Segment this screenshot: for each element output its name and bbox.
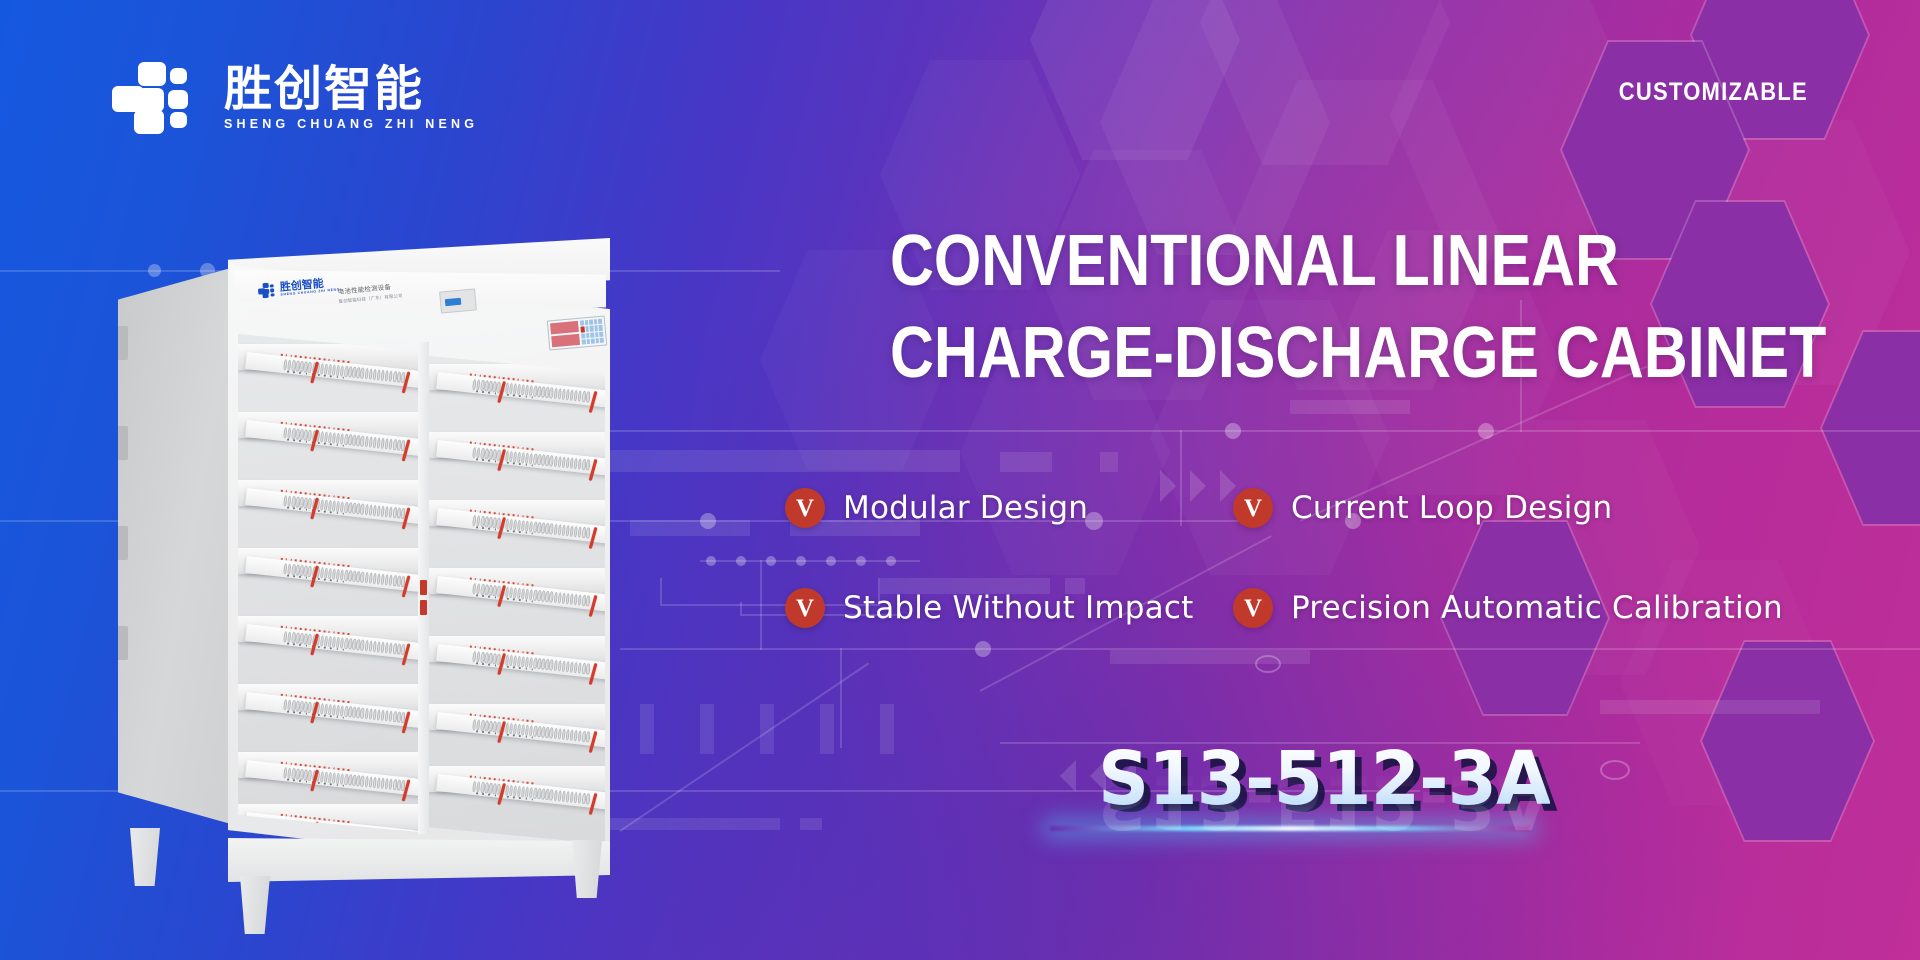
model-number-reflection: S13-512-3A	[1098, 764, 1550, 838]
feature-label: Stable Without Impact	[843, 590, 1193, 626]
cabinet-base-plinth	[228, 838, 610, 882]
feature-item-precision-automatic-calibration: V Precision Automatic Calibration	[1233, 588, 1783, 628]
keypad-keys[interactable]	[580, 319, 604, 345]
feature-label: Modular Design	[843, 490, 1088, 526]
feature-item-modular-design: V Modular Design	[785, 488, 1205, 528]
check-badge-label: V	[796, 496, 814, 521]
feature-label: Current Loop Design	[1291, 490, 1612, 526]
check-badge-label: V	[796, 596, 814, 621]
cabinet-bay-left	[238, 334, 418, 832]
brand-name-cn: 胜创智能	[224, 65, 478, 113]
feature-label: Precision Automatic Calibration	[1291, 590, 1783, 626]
check-badge-icon: V	[1233, 588, 1273, 628]
product-image-charge-discharge-cabinet: 胜创智能 SHENG CHUANG ZHI NENG 电池性能检测设备 胜创智能…	[110, 238, 670, 928]
check-badge-icon: V	[785, 588, 825, 628]
brand-name-en: SHENG CHUANG ZHI NENG	[224, 118, 478, 131]
cabinet-leg	[240, 876, 270, 934]
brand-logo[interactable]: 胜创智能 SHENG CHUANG ZHI NENG	[112, 62, 478, 134]
headline-line-1: CONVENTIONAL LINEAR	[890, 218, 1826, 306]
sheng-chuang-node-mark-icon	[112, 62, 198, 134]
cabinet-control-keypad[interactable]	[547, 315, 607, 350]
cabinet-leg	[572, 840, 602, 898]
cabinet-card-slot[interactable]	[439, 288, 477, 313]
feature-list: V Modular Design V Current Loop Design V…	[785, 488, 1783, 628]
cabinet-logo-mark-icon	[257, 282, 275, 298]
check-badge-icon: V	[785, 488, 825, 528]
customizable-tag: CUSTOMIZABLE	[1619, 78, 1808, 107]
headline-line-2: CHARGE-DISCHARGE CABINET	[890, 310, 1826, 398]
check-badge-label: V	[1244, 596, 1262, 621]
keypad-display	[550, 321, 580, 347]
page-title: CONVENTIONAL LINEAR CHARGE-DISCHARGE CAB…	[890, 218, 1920, 398]
cabinet-left-side-panel	[118, 266, 238, 826]
cabinet-center-divider	[418, 342, 429, 834]
feature-item-stable-without-impact: V Stable Without Impact	[785, 588, 1205, 628]
feature-item-current-loop-design: V Current Loop Design	[1233, 488, 1783, 528]
check-badge-label: V	[1244, 496, 1262, 521]
cabinet-leg	[130, 828, 160, 886]
model-number-block: S13-512-3A S13-512-3A S13-512-3A	[1098, 742, 1558, 922]
cabinet-bay-right	[429, 356, 605, 844]
check-badge-icon: V	[1233, 488, 1273, 528]
product-banner: 胜创智能 SHENG CHUANG ZHI NENG CUSTOMIZABLE …	[0, 0, 1920, 960]
